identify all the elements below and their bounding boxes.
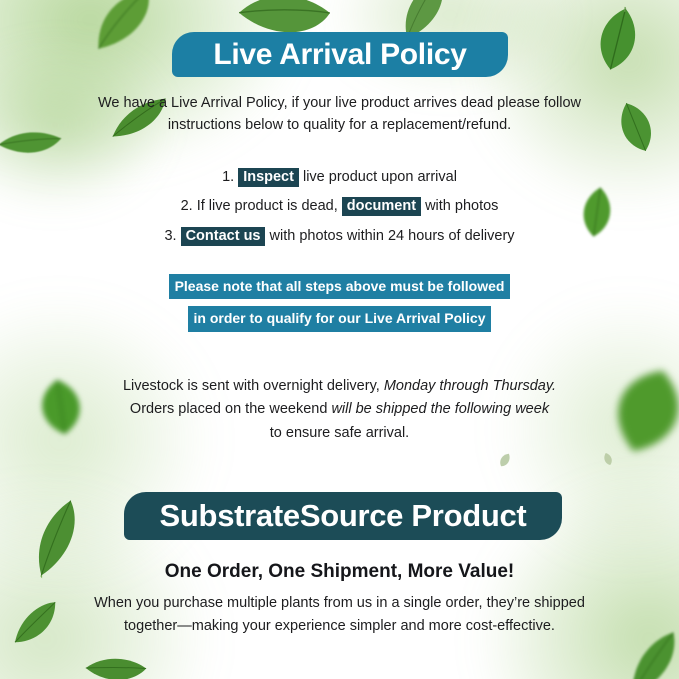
shipping-line-2-plain: Orders placed on the weekend [130, 401, 332, 417]
policy-note: Please note that all steps above must be… [0, 274, 679, 339]
shipping-line-2-italic: will be shipped the following week [331, 401, 549, 417]
step-text-after: live product upon arrival [299, 169, 457, 185]
leaf-icon [79, 0, 168, 59]
leaf-icon [600, 450, 616, 467]
leaf-icon [495, 450, 515, 471]
substratesource-product-banner: SubstrateSource Product [124, 492, 562, 540]
step-number: 2. [181, 198, 193, 214]
substratesource-product-title: SubstrateSource Product [160, 498, 527, 534]
step-highlight-document: document [342, 197, 421, 216]
live-arrival-policy-infographic: Live Arrival Policy We have a Live Arriv… [0, 0, 679, 679]
shipping-line-2: Orders placed on the weekend will be shi… [0, 398, 679, 421]
step-highlight-inspect: Inspect [238, 168, 299, 187]
list-item: 3. Contact us with photos within 24 hour… [0, 225, 679, 247]
step-number: 1. [222, 169, 234, 185]
closing-subheading: One Order, One Shipment, More Value! [0, 557, 679, 586]
leaf-icon [585, 1, 651, 78]
step-text-after: with photos [421, 198, 498, 214]
step-highlight-contact-us: Contact us [181, 227, 266, 246]
shipping-line-1: Livestock is sent with overnight deliver… [0, 375, 679, 398]
shipping-line-1-plain: Livestock is sent with overnight deliver… [123, 378, 384, 394]
step-number: 3. [164, 228, 176, 244]
step-text-before: If live product is dead, [197, 198, 342, 214]
intro-lead: We have a Live Arrival Policy [98, 95, 284, 111]
list-item: 1. Inspect live product upon arrival [0, 166, 679, 188]
policy-note-line-1: Please note that all steps above must be… [169, 274, 511, 299]
policy-note-line-2-wrap: in order to qualify for our Live Arrival… [0, 306, 679, 331]
live-arrival-policy-banner: Live Arrival Policy [172, 32, 508, 77]
policy-note-line-2: in order to qualify for our Live Arrival… [188, 306, 492, 331]
shipping-line-1-italic: Monday through Thursday. [384, 378, 556, 394]
shipping-schedule-text: Livestock is sent with overnight deliver… [0, 375, 679, 445]
steps-list: 1. Inspect live product upon arrival 2. … [0, 166, 679, 254]
intro-paragraph: We have a Live Arrival Policy, if your l… [0, 92, 679, 137]
shipping-line-3: to ensure safe arrival. [0, 422, 679, 445]
leaf-icon [80, 638, 152, 679]
closing-paragraph: When you purchase multiple plants from u… [0, 592, 679, 639]
shipping-line-3-plain: to ensure safe arrival. [270, 425, 409, 441]
background-wash-top-left [0, 0, 300, 170]
step-text-after: with photos within 24 hours of delivery [265, 228, 514, 244]
policy-note-line-1-wrap: Please note that all steps above must be… [0, 274, 679, 299]
list-item: 2. If live product is dead, document wit… [0, 195, 679, 217]
live-arrival-policy-title: Live Arrival Policy [213, 38, 466, 72]
